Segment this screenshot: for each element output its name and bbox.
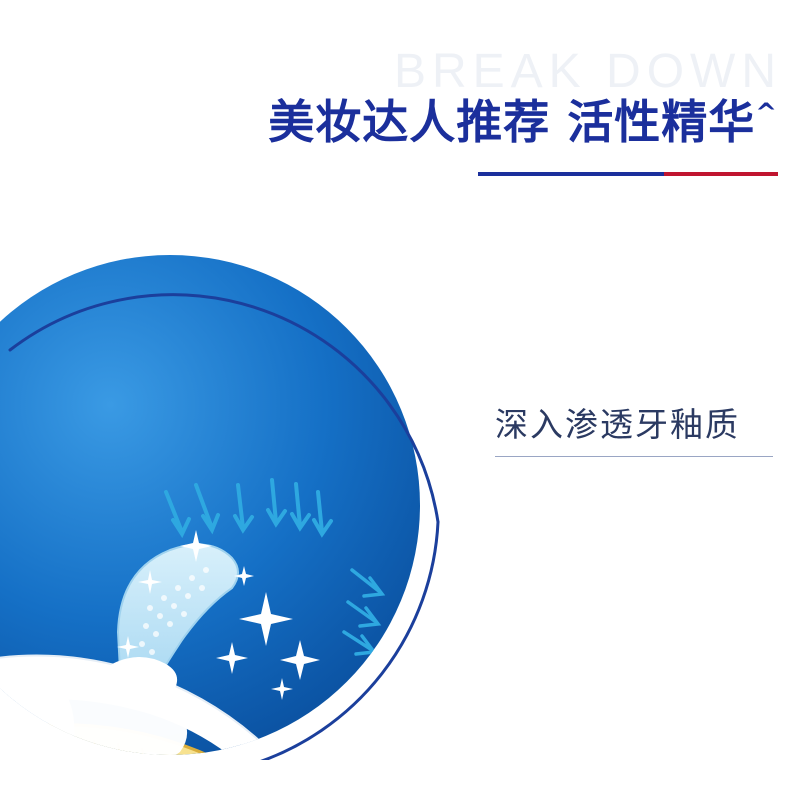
page-root: BREAK DOWN 美妆达人推荐 活性精华^ 深入渗透牙釉质 [0, 0, 800, 800]
page-title-superscript: ^ [755, 99, 778, 129]
feature-caption: 深入渗透牙釉质 [495, 398, 740, 446]
title-underline-red [664, 172, 778, 176]
title-underline-blue [478, 172, 664, 176]
title-underline [478, 172, 778, 176]
feature-caption-underline [495, 456, 773, 457]
page-title: 美妆达人推荐 活性精华^ [268, 86, 778, 152]
illustration-tooth-enamel [0, 240, 470, 760]
page-title-text: 美妆达人推荐 活性精华 [268, 95, 755, 149]
